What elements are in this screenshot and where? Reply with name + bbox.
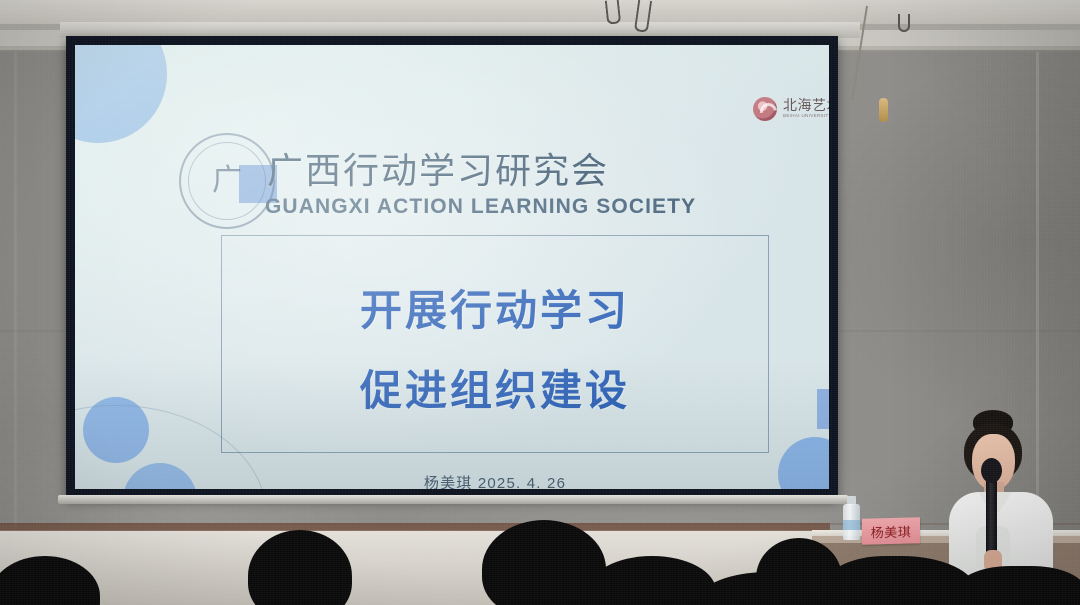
projector-screen: 广 广西行动学习研究会 GUANGXI ACTION LEARNING SOCI…	[66, 36, 838, 498]
organization-title-en: GUANGXI ACTION LEARNING SOCIETY	[265, 195, 696, 219]
university-logo-text: 北海艺术设计学院 BEIHAI UNIVERSITY OF ART AND DE…	[783, 99, 829, 118]
organization-title-cn: 广西行动学习研究会	[267, 142, 609, 194]
organization-seal-icon: 广	[179, 133, 275, 229]
slide-headline-line1: 开展行动学习	[221, 277, 769, 338]
presentation-slide: 广 广西行动学习研究会 GUANGXI ACTION LEARNING SOCI…	[75, 45, 829, 489]
slide-byline: 杨美琪 2025. 4. 26	[221, 472, 769, 489]
university-name-en: BEIHAI UNIVERSITY OF ART AND DESIGN	[783, 114, 829, 119]
bottle-label	[843, 520, 860, 530]
ceiling-hook-icon	[898, 14, 910, 32]
microphone-icon	[981, 458, 1002, 483]
deco-circle-bottomright	[778, 437, 829, 489]
speaker-nameplate: 杨美琪	[862, 517, 920, 545]
ceiling-band	[0, 0, 1080, 24]
slide-headline-line2: 促进组织建设	[221, 357, 769, 418]
microphone-body	[986, 476, 997, 554]
university-logo: 北海艺术设计学院 BEIHAI UNIVERSITY OF ART AND DE…	[753, 97, 829, 121]
deco-square-back	[817, 389, 829, 429]
photo-scene: 广 广西行动学习研究会 GUANGXI ACTION LEARNING SOCI…	[0, 0, 1080, 605]
audience-head	[956, 566, 1080, 605]
projector-screen-bottom-bar	[58, 495, 848, 504]
seal-glyph: 广	[212, 166, 242, 196]
nameplate-text: 杨美琪	[871, 521, 912, 541]
water-bottle[interactable]	[843, 496, 860, 540]
university-mark-icon	[753, 97, 777, 121]
ceiling-hook-icon	[605, 0, 621, 25]
slide-content-box	[221, 235, 769, 453]
university-name-cn: 北海艺术设计学院	[783, 99, 829, 114]
cord-weight[interactable]	[879, 98, 888, 122]
wainscot-trim	[0, 523, 830, 531]
deco-circle-topleft	[75, 45, 167, 143]
